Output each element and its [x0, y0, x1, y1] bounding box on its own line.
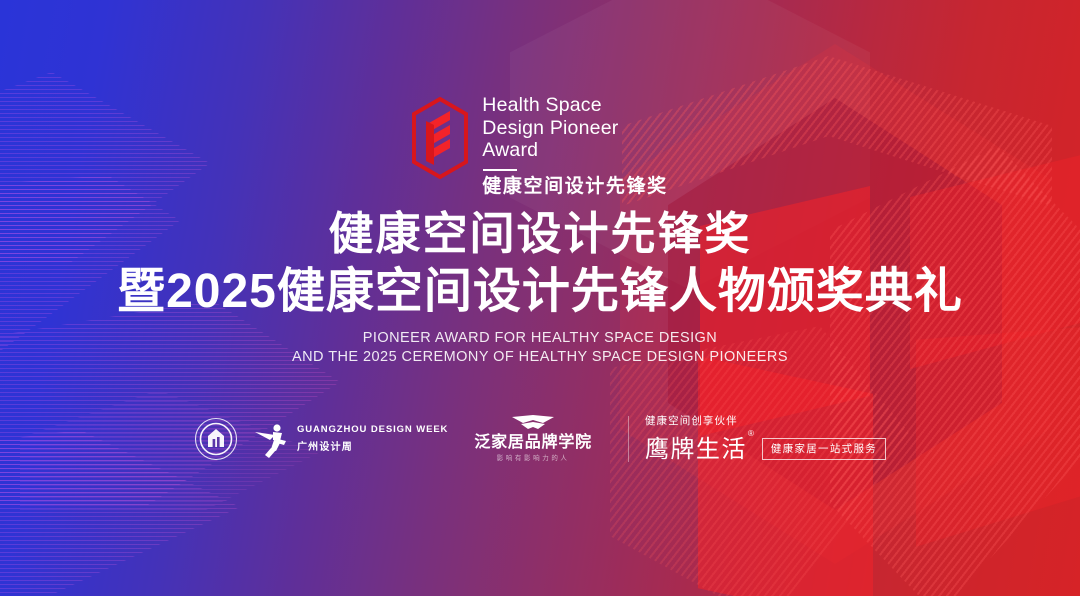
- logo-lockup: Health Space Design Pioneer Award 健康空间设计…: [0, 94, 1080, 198]
- logo-english-line2: Design Pioneer: [482, 117, 618, 140]
- page-title: 健康空间设计先锋奖 暨2025健康空间设计先锋人物颁奖典礼: [0, 206, 1080, 322]
- logo-lockup-text: Health Space Design Pioneer Award 健康空间设计…: [482, 94, 667, 198]
- flying-figure-icon: [254, 419, 290, 459]
- eagle-partner-label: 健康空间创享伙伴: [645, 415, 738, 428]
- eagle-brand-row: 鹰牌生活® 健康家居一站式服务: [645, 432, 886, 463]
- logo-chinese-name: 健康空间设计先锋奖: [482, 176, 667, 198]
- house-seal-icon: [194, 417, 238, 461]
- headline-line-2: 暨2025健康空间设计先锋人物颁奖典礼: [0, 262, 1080, 322]
- logo-english-line1: Health Space: [482, 94, 601, 117]
- subtitle-line-2: AND THE 2025 CEREMONY OF HEALTHY SPACE D…: [0, 348, 1080, 367]
- sponsor-row: GUANGZHOU DESIGN WEEK 广州设计周 泛家居品牌学院 影响有影…: [0, 414, 1080, 463]
- fanjiaju-name: 泛家居品牌学院: [474, 433, 592, 452]
- logo-english-line3: Award: [482, 139, 538, 162]
- guangzhou-design-week-logo: GUANGZHOU DESIGN WEEK 广州设计周: [254, 419, 448, 459]
- fanjiaju-academy-logo: 泛家居品牌学院 影响有影响力的人: [474, 414, 592, 463]
- award-key-visual: Health Space Design Pioneer Award 健康空间设计…: [0, 0, 1080, 596]
- gzdw-english: GUANGZHOU DESIGN WEEK: [297, 424, 448, 435]
- fanjiaju-tagline: 影响有影响力的人: [497, 454, 570, 463]
- eagle-brand-name: 鹰牌生活®: [645, 432, 753, 463]
- eagle-brand-text: 鹰牌生活: [645, 436, 747, 463]
- headline-line-1: 健康空间设计先锋奖: [0, 206, 1080, 262]
- gzdw-chinese: 广州设计周: [297, 438, 448, 453]
- logo-divider-rule: [483, 169, 517, 172]
- wings-icon: [510, 414, 556, 431]
- sponsor-divider: [628, 416, 629, 462]
- watermark-panel-2: [698, 356, 873, 596]
- eagle-life-logo: 健康空间创享伙伴 鹰牌生活® 健康家居一站式服务: [645, 415, 886, 463]
- subtitle: PIONEER AWARD FOR HEALTHY SPACE DESIGN A…: [0, 329, 1080, 367]
- registered-trademark-icon: ®: [748, 429, 754, 438]
- health-space-design-pioneer-award-mark-icon: [412, 97, 468, 179]
- eagle-service-pill: 健康家居一站式服务: [762, 438, 886, 460]
- guangzhou-design-week-text: GUANGZHOU DESIGN WEEK 广州设计周: [297, 424, 448, 453]
- subtitle-line-1: PIONEER AWARD FOR HEALTHY SPACE DESIGN: [0, 329, 1080, 348]
